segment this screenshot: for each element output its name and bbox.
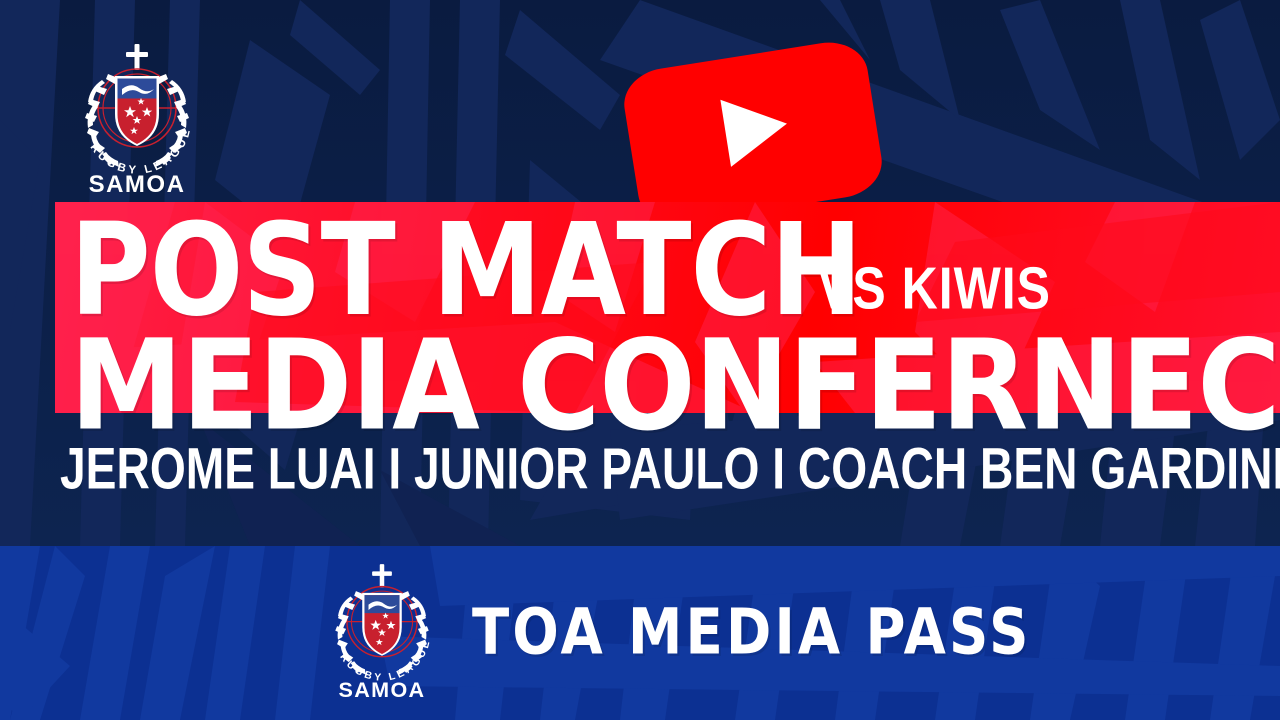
headline-band — [55, 202, 1280, 413]
footer-rugby-league-samoa-crest: RUGBY LEAGUE SAMOA — [320, 558, 444, 706]
tribal-pattern-band — [55, 202, 1280, 413]
play-triangle-icon — [720, 90, 792, 167]
thumbnail-canvas: RUGBY LEAGUE SAMOA — [0, 0, 1280, 720]
crest-org-name: SAMOA — [89, 171, 186, 197]
footer-title: TOA MEDIA PASS — [472, 601, 1032, 664]
footer-crest-org-name: SAMOA — [339, 677, 426, 702]
rugby-league-samoa-crest: RUGBY LEAGUE SAMOA — [68, 42, 206, 197]
